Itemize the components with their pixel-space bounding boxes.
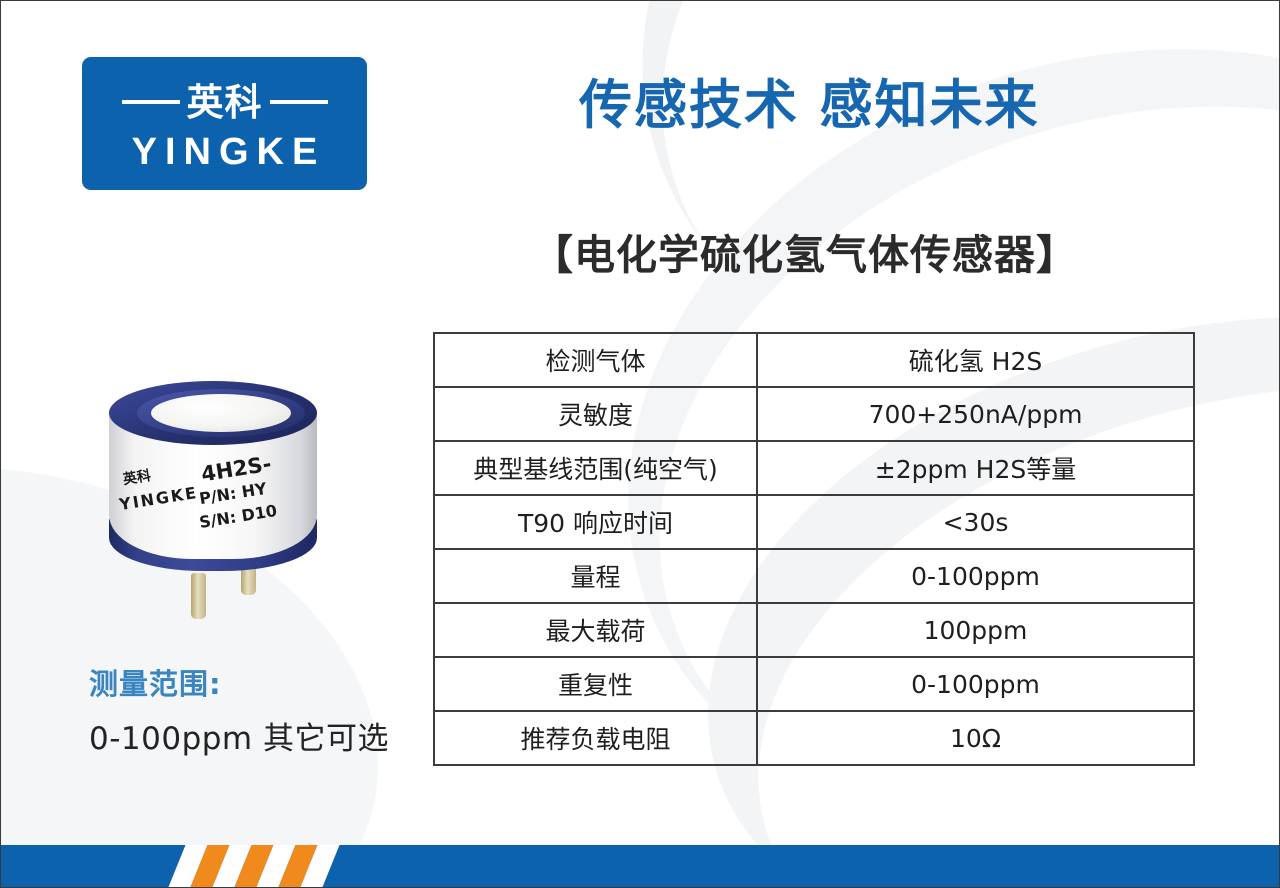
logo-cn-row: 英科 bbox=[82, 80, 367, 124]
sensor-membrane bbox=[151, 394, 291, 432]
logo-en-text: YINGKE bbox=[82, 133, 367, 171]
spec-label: 最大载荷 bbox=[434, 603, 757, 657]
spec-value: ±2ppm H2S等量 bbox=[757, 441, 1194, 495]
specification-table-body: 检测气体 硫化氢 H2S 灵敏度 700+250nA/ppm 典型基线范围(纯空… bbox=[434, 333, 1194, 765]
spec-value: 硫化氢 H2S bbox=[757, 333, 1194, 387]
spec-label: 重复性 bbox=[434, 657, 757, 711]
specification-table: 检测气体 硫化氢 H2S 灵敏度 700+250nA/ppm 典型基线范围(纯空… bbox=[433, 332, 1195, 766]
spec-value: 0-100ppm bbox=[757, 657, 1194, 711]
table-row: 重复性 0-100ppm bbox=[434, 657, 1194, 711]
spec-label: 量程 bbox=[434, 549, 757, 603]
header-slogan: 传感技术 感知未来 bbox=[579, 63, 1039, 139]
measurement-range-label: 测量范围: bbox=[89, 661, 222, 703]
spec-value: <30s bbox=[757, 495, 1194, 549]
table-row: 灵敏度 700+250nA/ppm bbox=[434, 387, 1194, 441]
spec-label: 检测气体 bbox=[434, 333, 757, 387]
measurement-range-value: 0-100ppm 其它可选 bbox=[89, 713, 389, 758]
sensor-label-brand-cn: 英科 bbox=[122, 469, 152, 487]
sensor-top-ring bbox=[109, 381, 317, 445]
table-row: 检测气体 硫化氢 H2S bbox=[434, 333, 1194, 387]
table-row: 最大载荷 100ppm bbox=[434, 603, 1194, 657]
logo-cn-text: 英科 bbox=[187, 84, 263, 121]
spec-value: 0-100ppm bbox=[757, 549, 1194, 603]
sensor-label-brand-en: YINGKE bbox=[118, 485, 199, 513]
table-row: 推荐负载电阻 10Ω bbox=[434, 711, 1194, 765]
spec-label: T90 响应时间 bbox=[434, 495, 757, 549]
footer-bar bbox=[1, 845, 1280, 887]
table-row: 典型基线范围(纯空气) ±2ppm H2S等量 bbox=[434, 441, 1194, 495]
product-spec-poster: 英科 YINGKE 传感技术 感知未来 【电化学硫化氢气体传感器】 英科 YIN… bbox=[0, 0, 1280, 888]
logo-rule-left bbox=[122, 100, 180, 104]
spec-label: 典型基线范围(纯空气) bbox=[434, 441, 757, 495]
spec-label: 推荐负载电阻 bbox=[434, 711, 757, 765]
table-row: 量程 0-100ppm bbox=[434, 549, 1194, 603]
sensor-label-serial-number: S/N: D10 bbox=[198, 503, 278, 531]
brand-logo: 英科 YINGKE bbox=[82, 57, 367, 190]
page-title: 【电化学硫化氢气体传感器】 bbox=[433, 221, 1177, 281]
sensor-pin-left bbox=[191, 573, 206, 619]
spec-label: 灵敏度 bbox=[434, 387, 757, 441]
spec-value: 700+250nA/ppm bbox=[757, 387, 1194, 441]
spec-value: 10Ω bbox=[757, 711, 1194, 765]
spec-value: 100ppm bbox=[757, 603, 1194, 657]
sensor-product-photo: 英科 YINGKE 4H2S- P/N: HY S/N: D10 bbox=[101, 379, 351, 629]
logo-rule-right bbox=[270, 100, 328, 104]
table-row: T90 响应时间 <30s bbox=[434, 495, 1194, 549]
